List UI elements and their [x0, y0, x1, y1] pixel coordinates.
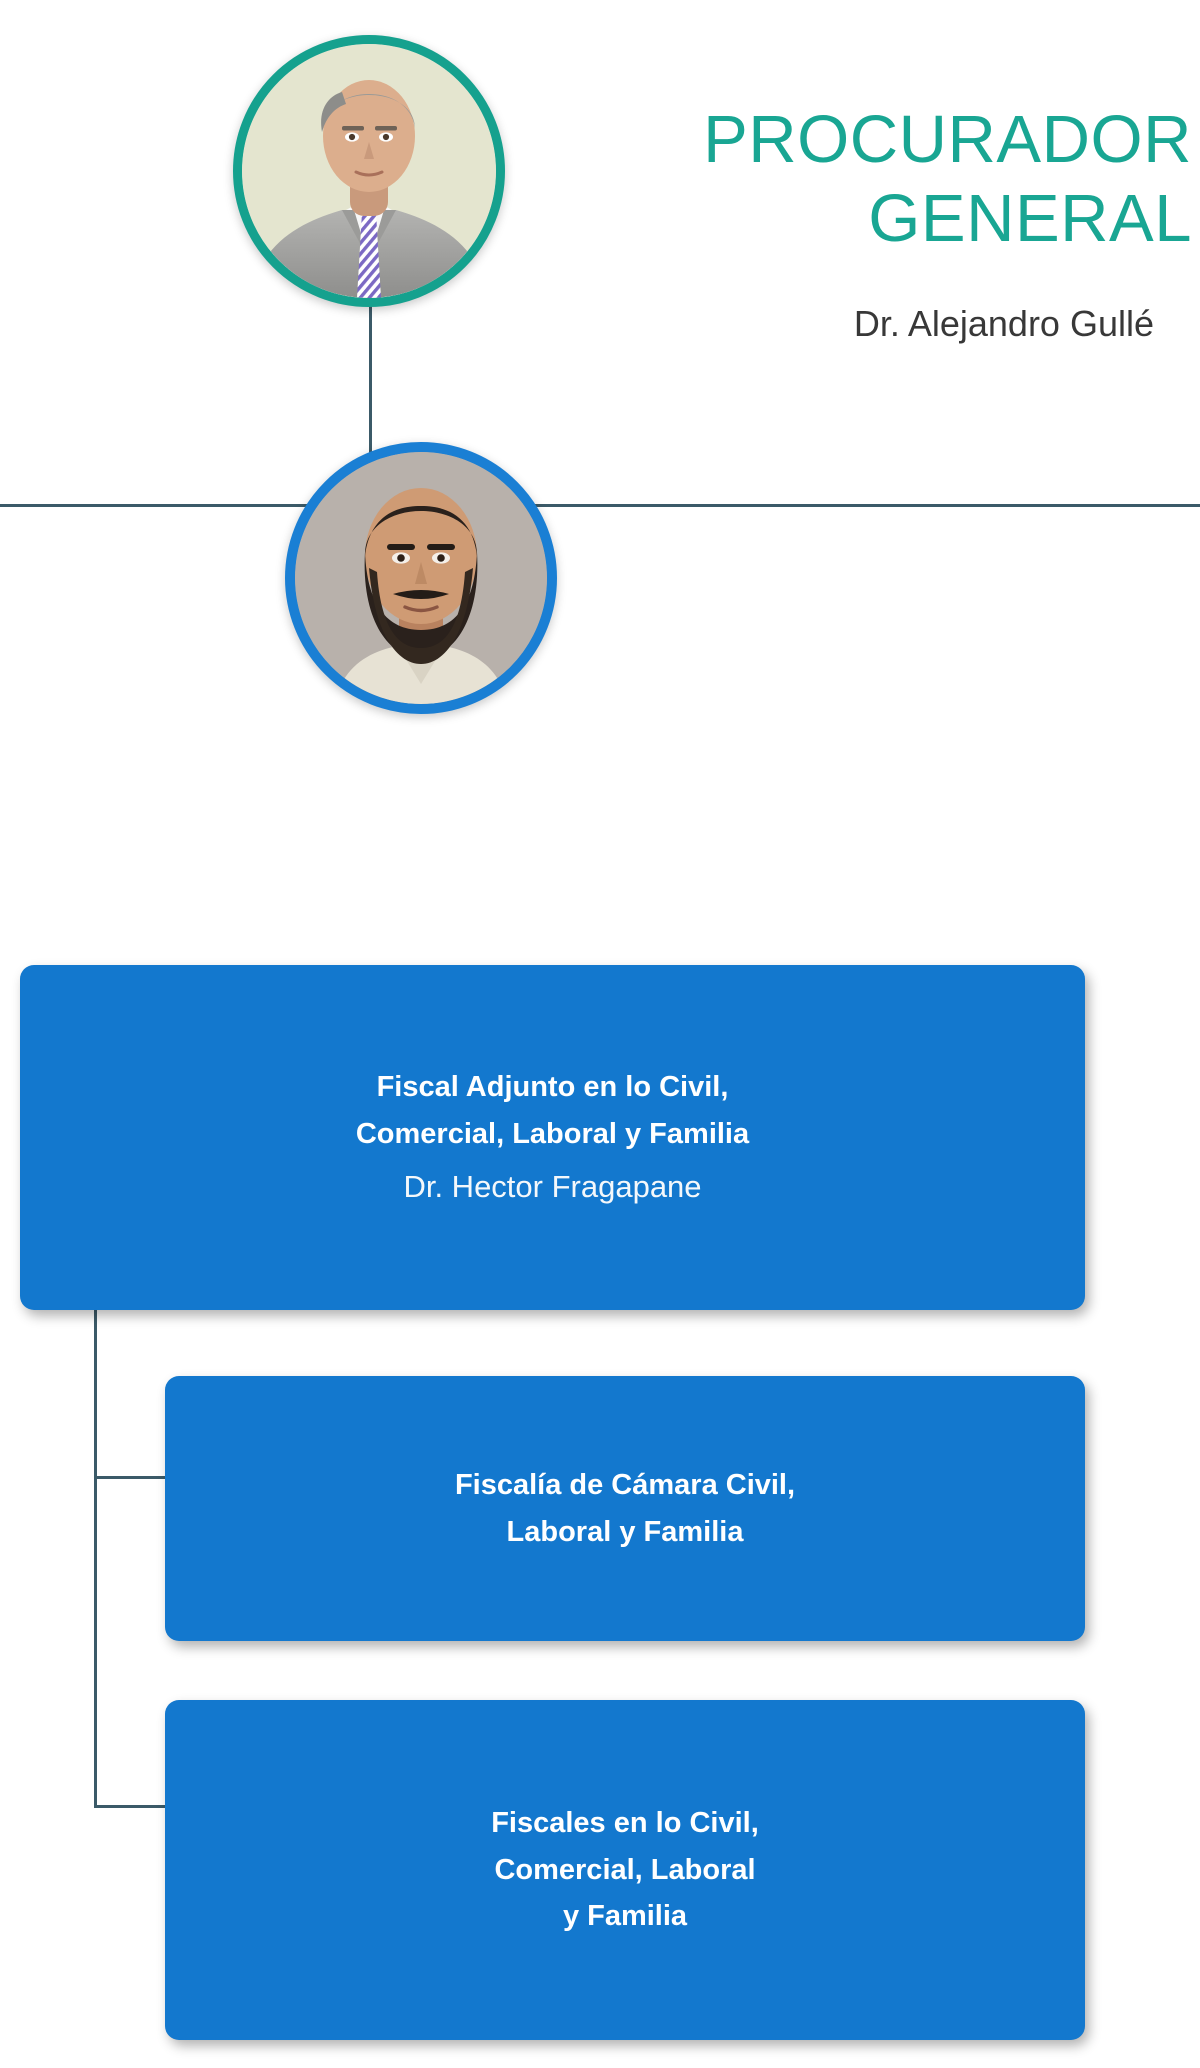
- procurador-general-name: Dr. Alejandro Gullé: [500, 302, 1200, 345]
- card-fiscales-title: Fiscales en lo Civil, Comercial, Laboral…: [491, 1800, 759, 1941]
- procurador-general-title: PROCURADOR GENERAL: [500, 100, 1200, 258]
- card-fiscal-adjunto-person: Dr. Hector Fragapane: [403, 1164, 701, 1211]
- card-fiscalia-camara[interactable]: Fiscalía de Cámara Civil, Laboral y Fami…: [165, 1376, 1085, 1641]
- card-fiscales[interactable]: Fiscales en lo Civil, Comercial, Laboral…: [165, 1700, 1085, 2040]
- procurador-general-photo: [242, 44, 496, 298]
- fiscal-adjunto-photo: [295, 452, 547, 704]
- card-fiscalia-camara-title: Fiscalía de Cámara Civil, Laboral y Fami…: [455, 1462, 795, 1556]
- portrait-illustration-fiscal-adjunto: [295, 452, 547, 704]
- fiscal-adjunto-avatar[interactable]: [285, 442, 557, 714]
- connector-branch-fiscalia-camara: [94, 1476, 174, 1479]
- procurador-general-avatar[interactable]: [233, 35, 505, 307]
- connector-branch-fiscales: [94, 1805, 174, 1808]
- connector-children-spine: [94, 1298, 97, 1808]
- portrait-illustration-procurador: [242, 44, 496, 298]
- connector-main-rail: [0, 504, 1200, 507]
- card-fiscal-adjunto-title: Fiscal Adjunto en lo Civil, Comercial, L…: [356, 1064, 749, 1158]
- card-fiscal-adjunto[interactable]: Fiscal Adjunto en lo Civil, Comercial, L…: [20, 965, 1085, 1310]
- org-chart-canvas: PROCURADOR GENERAL Dr. Alejandro Gullé: [0, 0, 1200, 2068]
